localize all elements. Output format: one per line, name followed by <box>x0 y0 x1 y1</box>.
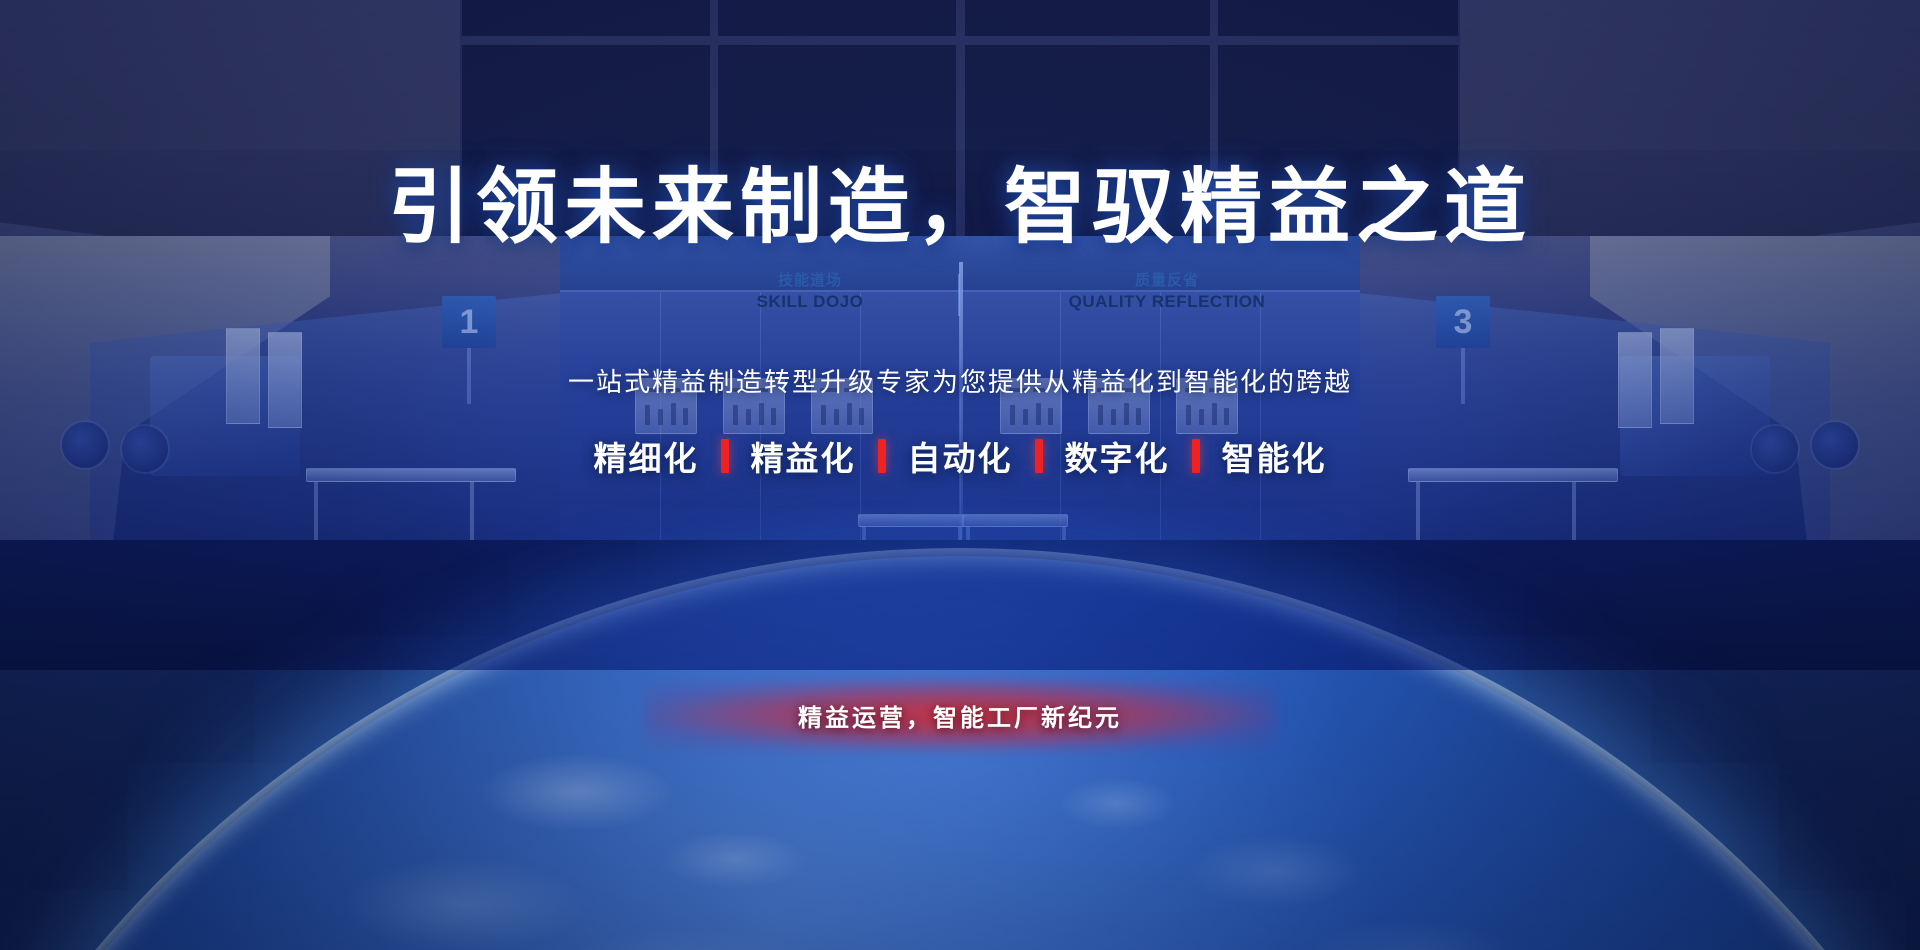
tagline-banner: 精益运营，智能工厂新纪元 <box>700 685 1220 745</box>
banner-content: 引领未来制造，智驭精益之道 一站式精益制造转型升级专家为您提供从精益化到智能化的… <box>0 0 1920 950</box>
keyword-separator <box>878 439 886 473</box>
keyword-item: 智能化 <box>1222 432 1327 480</box>
keyword-separator <box>1035 439 1043 473</box>
tagline-text: 精益运营，智能工厂新纪元 <box>798 698 1122 733</box>
keyword-separator <box>1192 439 1200 473</box>
keyword-separator <box>721 439 729 473</box>
keyword-item: 精细化 <box>594 432 699 480</box>
banner-subtitle: 一站式精益制造转型升级专家为您提供从精益化到智能化的跨越 <box>0 362 1920 399</box>
hero-banner: 1 3 技能道场 SKILL DOJO 质量反省 QUALITY REFLECT… <box>0 0 1920 950</box>
keyword-item: 自动化 <box>908 432 1013 480</box>
keyword-item: 数字化 <box>1065 432 1170 480</box>
keyword-list: 精细化 精益化 自动化 数字化 智能化 <box>0 432 1920 480</box>
keyword-item: 精益化 <box>751 432 856 480</box>
banner-headline: 引领未来制造，智驭精益之道 <box>0 140 1920 259</box>
